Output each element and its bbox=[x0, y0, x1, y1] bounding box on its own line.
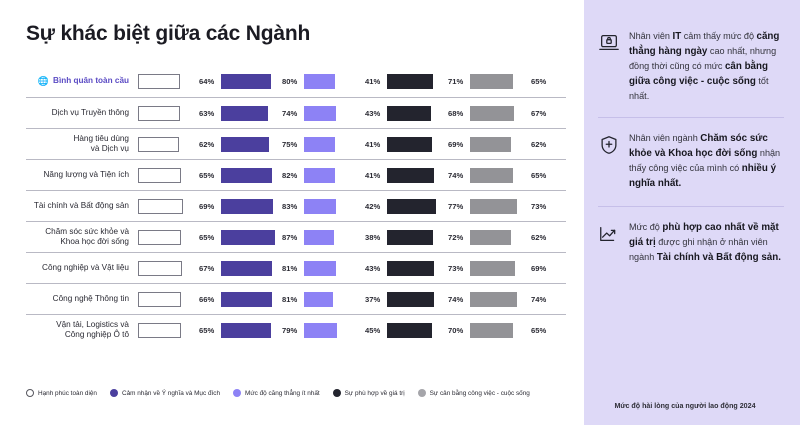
bar-value: 83% bbox=[282, 202, 297, 211]
bar-track bbox=[387, 230, 443, 245]
bar-track bbox=[387, 292, 443, 307]
bar-track bbox=[470, 199, 526, 214]
bar bbox=[304, 261, 336, 276]
metric-cell: 62% bbox=[470, 230, 553, 245]
bar-value: 65% bbox=[199, 233, 214, 242]
row-label: Hàng tiêu dùngvà Dịch vụ bbox=[26, 134, 138, 155]
bar-value: 74% bbox=[282, 109, 297, 118]
bar-track bbox=[470, 106, 526, 121]
bar bbox=[221, 74, 271, 89]
table-row: Hàng tiêu dùngvà Dịch vụ62%75%41%69%62% bbox=[26, 128, 566, 159]
bar-track bbox=[138, 106, 194, 121]
industry-comparison-table: 🌐Bình quân toàn cầu64%80%41%71%65%Dịch v… bbox=[26, 66, 566, 345]
bar-value: 38% bbox=[365, 233, 380, 242]
bar bbox=[470, 323, 513, 338]
metric-cell: 65% bbox=[138, 323, 221, 338]
bar-value: 69% bbox=[531, 264, 546, 273]
metric-cell: 74% bbox=[387, 292, 470, 307]
bar bbox=[470, 230, 511, 245]
metric-cell: 41% bbox=[304, 137, 387, 152]
bar bbox=[470, 199, 517, 214]
bar-track bbox=[221, 292, 277, 307]
bar bbox=[304, 168, 335, 183]
bar-track bbox=[387, 106, 443, 121]
metric-cell: 72% bbox=[387, 230, 470, 245]
insight-highlight: IT bbox=[672, 31, 681, 42]
bar-value: 65% bbox=[199, 326, 214, 335]
bar-track bbox=[304, 74, 360, 89]
bar-value: 67% bbox=[531, 109, 546, 118]
bar-track bbox=[387, 168, 443, 183]
legend-swatch-outline-circle bbox=[26, 389, 34, 397]
row-label: Dịch vụ Truyền thông bbox=[26, 108, 138, 119]
bar bbox=[304, 292, 333, 307]
metric-cell: 73% bbox=[470, 199, 553, 214]
bar-value: 64% bbox=[199, 77, 214, 86]
insight-text: Nhân viên IT cảm thấy mức độ căng thẳng … bbox=[629, 30, 784, 103]
bar-value: 65% bbox=[199, 171, 214, 180]
bar-track bbox=[387, 74, 443, 89]
infographic-page: Sự khác biệt giữa các Ngành 🌐Bình quân t… bbox=[0, 0, 800, 425]
bar bbox=[221, 168, 272, 183]
metric-cell: 87% bbox=[221, 230, 304, 245]
legend-label: Hạnh phúc toàn diện bbox=[38, 390, 97, 397]
bar bbox=[470, 137, 511, 152]
row-label-text: Chăm sóc sức khỏe và bbox=[45, 227, 129, 236]
legend-swatch-black-circle bbox=[333, 389, 341, 397]
row-label-text: Hàng tiêu dùng bbox=[73, 134, 129, 143]
bar bbox=[138, 292, 181, 307]
bar-track bbox=[304, 261, 360, 276]
bar bbox=[304, 74, 335, 89]
metric-cell: 65% bbox=[470, 74, 553, 89]
bar bbox=[304, 230, 334, 245]
metric-cell: 77% bbox=[387, 199, 470, 214]
bar-track bbox=[138, 74, 194, 89]
bar bbox=[138, 106, 180, 121]
bar-value: 72% bbox=[448, 233, 463, 242]
bar-track bbox=[304, 199, 360, 214]
metric-cell: 69% bbox=[387, 137, 470, 152]
metric-cell: 71% bbox=[387, 74, 470, 89]
bar-track bbox=[221, 261, 277, 276]
bar-track bbox=[304, 292, 360, 307]
legend-item: Cảm nhận về Ý nghĩa và Mục đích bbox=[110, 389, 220, 397]
trending-up-icon bbox=[598, 221, 620, 266]
bar bbox=[304, 137, 335, 152]
bar-track bbox=[387, 137, 443, 152]
bar-value: 65% bbox=[531, 171, 546, 180]
bar-value: 37% bbox=[365, 295, 380, 304]
bar-track bbox=[387, 261, 443, 276]
insights-panel: Nhân viên IT cảm thấy mức độ căng thẳng … bbox=[584, 0, 800, 425]
bar bbox=[221, 230, 275, 245]
metric-cell: 68% bbox=[387, 106, 470, 121]
bar-value: 62% bbox=[531, 233, 546, 242]
bar bbox=[470, 74, 513, 89]
bar bbox=[387, 230, 433, 245]
metric-cell: 83% bbox=[221, 199, 304, 214]
bar-value: 62% bbox=[199, 140, 214, 149]
bar bbox=[470, 292, 517, 307]
row-label: Năng lượng và Tiện ích bbox=[26, 170, 138, 181]
metric-cell: 45% bbox=[304, 323, 387, 338]
metric-cell: 69% bbox=[470, 261, 553, 276]
legend-item: Sự phù hợp về giá trị bbox=[333, 389, 405, 397]
metric-cell: 74% bbox=[387, 168, 470, 183]
bar bbox=[387, 168, 434, 183]
row-label: Vận tải, Logistics vàCông nghiệp Ô tô bbox=[26, 320, 138, 341]
bar bbox=[470, 168, 513, 183]
bar-track bbox=[470, 230, 526, 245]
bar bbox=[138, 323, 181, 338]
bar bbox=[221, 261, 272, 276]
row-label-text: Vận tải, Logistics và bbox=[56, 320, 129, 329]
bar bbox=[387, 106, 431, 121]
metric-cell: 81% bbox=[221, 292, 304, 307]
bar bbox=[221, 199, 273, 214]
bar bbox=[221, 106, 268, 121]
insight-callout: Mức độ phù hợp cao nhất về mặt giá trị đ… bbox=[598, 206, 784, 280]
metric-cell: 80% bbox=[221, 74, 304, 89]
bar-track bbox=[304, 106, 360, 121]
table-row: Công nghiệp và Vật liệu67%81%43%73%69% bbox=[26, 252, 566, 283]
bar bbox=[221, 292, 272, 307]
legend-item: Hạnh phúc toàn diện bbox=[26, 389, 97, 397]
bar-track bbox=[387, 323, 443, 338]
metric-cell: 74% bbox=[221, 106, 304, 121]
table-row: Chăm sóc sức khỏe vàKhoa học đời sống65%… bbox=[26, 221, 566, 252]
bar bbox=[470, 261, 515, 276]
bar-track bbox=[470, 168, 526, 183]
row-label-text-2: Công nghiệp Ô tô bbox=[65, 330, 129, 339]
bar bbox=[387, 137, 432, 152]
metric-cell: 42% bbox=[304, 199, 387, 214]
insight-plain: cảm thấy mức độ bbox=[681, 31, 756, 41]
bar-value: 82% bbox=[282, 171, 297, 180]
metric-cell: 79% bbox=[221, 323, 304, 338]
bar bbox=[304, 106, 336, 121]
metric-cell: 73% bbox=[387, 261, 470, 276]
bar-value: 79% bbox=[282, 326, 297, 335]
row-label-text: Công nghệ Thông tin bbox=[53, 294, 129, 303]
panel-footer: Mức độ hài lòng của người lao động 2024 bbox=[584, 402, 786, 410]
legend-swatch-light-purple-circle bbox=[233, 389, 241, 397]
bar-value: 70% bbox=[448, 326, 463, 335]
chart-legend: Hạnh phúc toàn diệnCảm nhận về Ý nghĩa v… bbox=[26, 389, 530, 397]
bar-track bbox=[304, 137, 360, 152]
page-title: Sự khác biệt giữa các Ngành bbox=[26, 22, 584, 46]
chart-panel: Sự khác biệt giữa các Ngành 🌐Bình quân t… bbox=[0, 0, 584, 425]
bar-value: 43% bbox=[365, 264, 380, 273]
bar-track bbox=[138, 323, 194, 338]
medical-shield-icon bbox=[598, 132, 620, 192]
metric-cell: 43% bbox=[304, 106, 387, 121]
metric-cell: 41% bbox=[304, 74, 387, 89]
legend-label: Sự cân bằng công việc - cuộc sống bbox=[430, 390, 530, 397]
row-label: Chăm sóc sức khỏe vàKhoa học đời sống bbox=[26, 227, 138, 248]
bar-value: 80% bbox=[282, 77, 297, 86]
bar-value: 68% bbox=[448, 109, 463, 118]
bar-track bbox=[470, 323, 526, 338]
metric-cell: 63% bbox=[138, 106, 221, 121]
insight-plain: Nhân viên bbox=[629, 31, 672, 41]
metric-cell: 75% bbox=[221, 137, 304, 152]
bar-value: 65% bbox=[531, 326, 546, 335]
laptop-lock-icon bbox=[598, 30, 620, 103]
legend-item: Mức độ căng thẳng ít nhất bbox=[233, 389, 320, 397]
bar-value: 73% bbox=[531, 202, 546, 211]
bar-value: 67% bbox=[199, 264, 214, 273]
metric-cell: 62% bbox=[470, 137, 553, 152]
metric-cell: 37% bbox=[304, 292, 387, 307]
legend-swatch-gray-circle bbox=[418, 389, 426, 397]
bar-track bbox=[138, 199, 194, 214]
bar-track bbox=[138, 137, 194, 152]
bar bbox=[304, 323, 337, 338]
bar-track bbox=[221, 106, 277, 121]
metric-cell: 65% bbox=[138, 168, 221, 183]
row-label-text: Bình quân toàn cầu bbox=[53, 76, 129, 87]
bar-value: 43% bbox=[365, 109, 380, 118]
bar-value: 74% bbox=[448, 295, 463, 304]
bar-value: 75% bbox=[282, 140, 297, 149]
row-label: Công nghệ Thông tin bbox=[26, 294, 138, 305]
bar-track bbox=[138, 168, 194, 183]
row-label-text-2: Khoa học đời sống bbox=[60, 237, 129, 246]
metric-cell: 70% bbox=[387, 323, 470, 338]
bar-track bbox=[304, 230, 360, 245]
bar bbox=[387, 323, 432, 338]
bar-value: 63% bbox=[199, 109, 214, 118]
metric-cell: 82% bbox=[221, 168, 304, 183]
bar bbox=[387, 199, 436, 214]
bar bbox=[387, 261, 434, 276]
bar bbox=[387, 292, 434, 307]
bar bbox=[221, 323, 271, 338]
metric-cell: 69% bbox=[138, 199, 221, 214]
bar bbox=[304, 199, 336, 214]
bar bbox=[221, 137, 269, 152]
bar-track bbox=[138, 292, 194, 307]
bar-value: 65% bbox=[531, 77, 546, 86]
bar-value: 71% bbox=[448, 77, 463, 86]
table-row: Dịch vụ Truyền thông63%74%43%68%67% bbox=[26, 97, 566, 128]
table-row: Năng lượng và Tiện ích65%82%41%74%65% bbox=[26, 159, 566, 190]
table-row: 🌐Bình quân toàn cầu64%80%41%71%65% bbox=[26, 66, 566, 97]
insight-callout: Nhân viên ngành Chăm sóc sức khỏe và Kho… bbox=[598, 117, 784, 206]
row-label-text: Năng lượng và Tiện ích bbox=[44, 170, 130, 179]
metric-cell: 62% bbox=[138, 137, 221, 152]
metric-cell: 41% bbox=[304, 168, 387, 183]
bar bbox=[387, 74, 433, 89]
bar-track bbox=[221, 323, 277, 338]
bar-value: 41% bbox=[365, 140, 380, 149]
bar-value: 73% bbox=[448, 264, 463, 273]
legend-label: Cảm nhận về Ý nghĩa và Mục đích bbox=[122, 390, 220, 397]
row-label-text: Dịch vụ Truyền thông bbox=[52, 108, 129, 117]
insight-plain: Nhân viên ngành bbox=[629, 133, 700, 143]
bar-track bbox=[138, 230, 194, 245]
bar-value: 87% bbox=[282, 233, 297, 242]
bar bbox=[138, 168, 181, 183]
bar-track bbox=[470, 137, 526, 152]
bar bbox=[138, 137, 179, 152]
metric-cell: 65% bbox=[470, 323, 553, 338]
globe-icon: 🌐 bbox=[38, 77, 49, 86]
insight-callout: Nhân viên IT cảm thấy mức độ căng thẳng … bbox=[598, 30, 784, 117]
bar-value: 41% bbox=[365, 77, 380, 86]
insight-text: Mức độ phù hợp cao nhất về mặt giá trị đ… bbox=[629, 221, 784, 266]
insight-highlight: Tài chính và Bất động sản. bbox=[657, 252, 781, 263]
bar bbox=[138, 74, 180, 89]
metric-cell: 43% bbox=[304, 261, 387, 276]
bar bbox=[138, 199, 183, 214]
bar-value: 41% bbox=[365, 171, 380, 180]
metric-cell: 81% bbox=[221, 261, 304, 276]
bar-track bbox=[304, 168, 360, 183]
bar bbox=[470, 106, 514, 121]
bar-track bbox=[221, 137, 277, 152]
row-label: 🌐Bình quân toàn cầu bbox=[26, 76, 138, 87]
table-row: Công nghệ Thông tin66%81%37%74%74% bbox=[26, 283, 566, 314]
metric-cell: 67% bbox=[138, 261, 221, 276]
row-label-text-2: và Dịch vụ bbox=[91, 144, 129, 153]
metric-cell: 64% bbox=[138, 74, 221, 89]
bar-track bbox=[221, 74, 277, 89]
metric-cell: 66% bbox=[138, 292, 221, 307]
legend-swatch-dark-purple-circle bbox=[110, 389, 118, 397]
metric-cell: 74% bbox=[470, 292, 553, 307]
legend-item: Sự cân bằng công việc - cuộc sống bbox=[418, 389, 530, 397]
bar-value: 81% bbox=[282, 264, 297, 273]
bar-track bbox=[138, 261, 194, 276]
bar bbox=[138, 230, 181, 245]
row-label-text: Tài chính và Bất động sản bbox=[34, 201, 129, 210]
table-row: Vận tải, Logistics vàCông nghiệp Ô tô65%… bbox=[26, 314, 566, 345]
metric-cell: 65% bbox=[470, 168, 553, 183]
bar bbox=[138, 261, 182, 276]
metric-cell: 67% bbox=[470, 106, 553, 121]
bar-value: 81% bbox=[282, 295, 297, 304]
bar-value: 74% bbox=[448, 171, 463, 180]
bar-track bbox=[221, 168, 277, 183]
legend-label: Sự phù hợp về giá trị bbox=[345, 390, 405, 397]
bar-value: 69% bbox=[448, 140, 463, 149]
bar-value: 77% bbox=[448, 202, 463, 211]
bar-value: 66% bbox=[199, 295, 214, 304]
bar-track bbox=[221, 230, 277, 245]
legend-label: Mức độ căng thẳng ít nhất bbox=[245, 390, 320, 397]
bar-track bbox=[470, 261, 526, 276]
row-label: Công nghiệp và Vật liệu bbox=[26, 263, 138, 274]
metric-cell: 38% bbox=[304, 230, 387, 245]
bar-track bbox=[221, 199, 277, 214]
bar-value: 74% bbox=[531, 295, 546, 304]
bar-track bbox=[470, 292, 526, 307]
callout-list: Nhân viên IT cảm thấy mức độ căng thẳng … bbox=[598, 30, 784, 280]
bar-track bbox=[387, 199, 443, 214]
insight-plain: Mức độ bbox=[629, 222, 662, 232]
insight-text: Nhân viên ngành Chăm sóc sức khỏe và Kho… bbox=[629, 132, 784, 192]
table-row: Tài chính và Bất động sản69%83%42%77%73% bbox=[26, 190, 566, 221]
row-label: Tài chính và Bất động sản bbox=[26, 201, 138, 212]
row-label-text: Công nghiệp và Vật liệu bbox=[42, 263, 129, 272]
bar-track bbox=[470, 74, 526, 89]
metric-cell: 65% bbox=[138, 230, 221, 245]
bar-value: 42% bbox=[365, 202, 380, 211]
bar-value: 62% bbox=[531, 140, 546, 149]
bar-value: 69% bbox=[199, 202, 214, 211]
bar-value: 45% bbox=[365, 326, 380, 335]
bar-track bbox=[304, 323, 360, 338]
